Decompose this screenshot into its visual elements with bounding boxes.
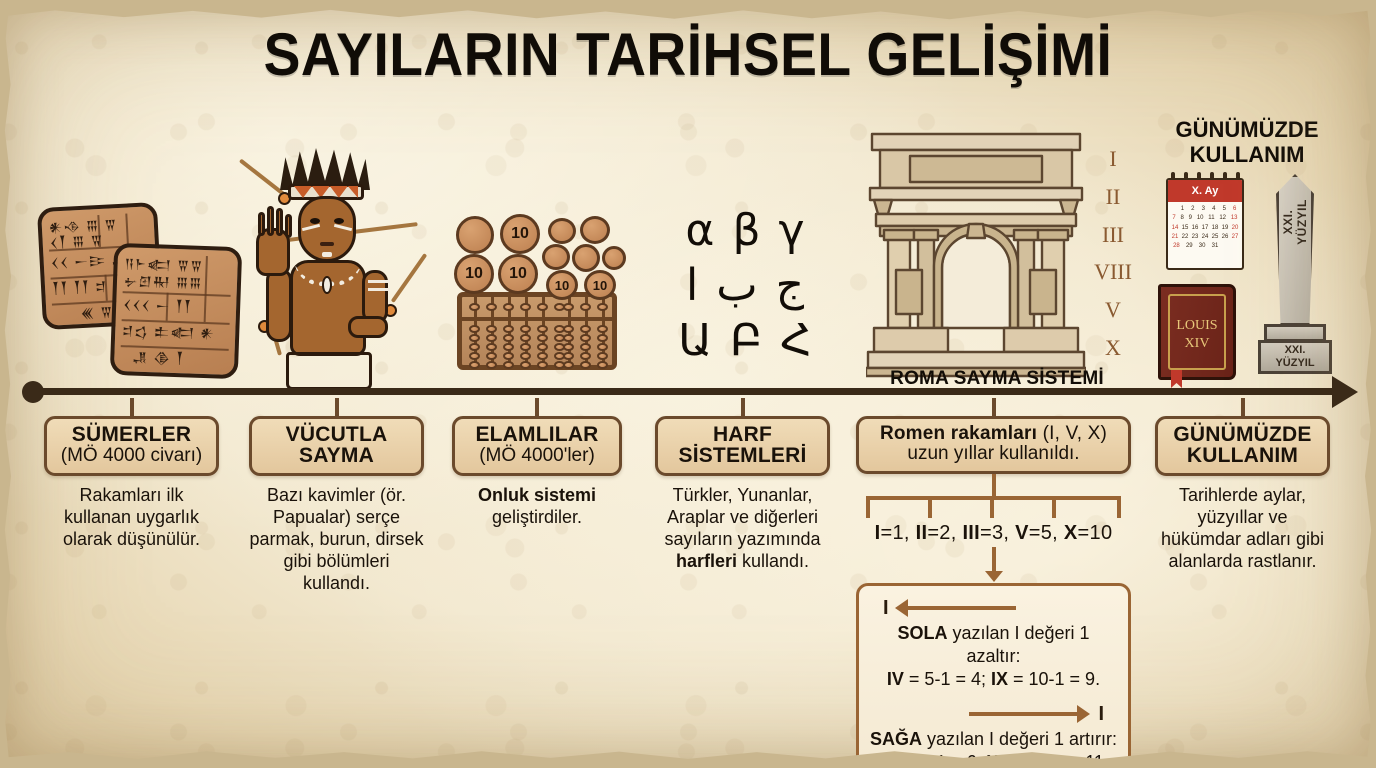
roman-connector-drop: [992, 474, 996, 496]
obelisk-shaft-text: XXI. YÜZYIL: [1281, 195, 1309, 249]
roman-numeral-ii: II: [1090, 178, 1136, 216]
roman-symbol-iii: III: [962, 522, 980, 544]
calendar-grid: 123456 78910111213 14151617181920 212223…: [1168, 202, 1242, 254]
armenian-ben: Բ: [730, 315, 762, 366]
description-sumerler: Rakamları ilk kullanan uygarlık olarak d…: [44, 485, 219, 551]
description-rest: geliştirdiler.: [492, 507, 582, 527]
roman-numeral-i: I: [1090, 140, 1136, 178]
roman-rules-box: I SOLA yazılan I değeri 1 azaltır: IV = …: [856, 583, 1131, 768]
rule-right-examples: VI = 5+1 = 6; XI = 10+1 = 11.: [869, 751, 1118, 768]
greek-alpha: α: [685, 205, 714, 256]
description-harf-sistemleri: Türkler, Yunanlar, Araplar ve diğerleri …: [655, 485, 830, 573]
description-post: kullandı.: [737, 551, 809, 571]
roman-numeral-x: X: [1090, 329, 1136, 367]
connector-stem: [992, 398, 996, 416]
rule-left-examples: IV = 5-1 = 4; IX = 10-1 = 9.: [869, 668, 1118, 691]
book-title-line1: LOUIS: [1161, 317, 1233, 335]
chip-title: SÜMERLER: [53, 424, 210, 445]
arabic-jim: ج: [776, 260, 804, 311]
paper-torn-edge-bottom: [0, 744, 1376, 768]
paper-torn-edge-left: [0, 0, 22, 768]
description-emphasis: Onluk sistemi: [478, 485, 596, 505]
connector-stem: [1241, 398, 1245, 416]
present-day-heading: GÜNÜMÜZDE KULLANIM: [1152, 118, 1342, 167]
chip-title: ELAMLILAR: [461, 424, 613, 445]
arabic-alif: ا: [686, 260, 698, 311]
papuan-tribesman-body-counting: [236, 148, 426, 388]
connector-stem: [741, 398, 745, 416]
parchment-background: SAYILARIN TARİHSEL GELİŞİMİ 𒀭𒈾 𒐋 𒐊 𒌋𒐕 𒐋 …: [0, 0, 1376, 768]
armenian-ho: Հ: [780, 315, 812, 366]
elamite-clay-tokens: 10 10 10 10 10: [452, 212, 622, 292]
page-title: SAYILARIN TARİHSEL GELİŞİMİ: [55, 20, 1321, 89]
connector-stem: [130, 398, 134, 416]
roman-symbol-ii: II: [916, 522, 928, 544]
roman-symbol-v: V: [1015, 522, 1029, 544]
chip-elamlilar[interactable]: ELAMLILAR (MÖ 4000'ler): [452, 416, 622, 476]
chip-title-rest: (I, V, X): [1037, 423, 1107, 444]
chip-harf-sistemleri[interactable]: HARF SİSTEMLERİ: [655, 416, 830, 476]
connector-stem: [335, 398, 339, 416]
timeline-arrow-icon: [1332, 376, 1358, 408]
obelisk-xxi-century: XXI. YÜZYIL XXI. YÜZYIL: [1252, 174, 1338, 382]
roman-values-row: I=1, II=2, III=3, V=5, X=10: [856, 522, 1131, 545]
greek-beta: β: [732, 205, 760, 256]
timeline-column-sumerler[interactable]: SÜMERLER (MÖ 4000 civarı) Rakamları ilk …: [44, 398, 219, 551]
calendar: X. Ay 123456 78910111213 14151617181920 …: [1166, 178, 1244, 270]
rule-right-text: SAĞA yazılan I değeri 1 artırır:: [869, 728, 1118, 751]
chip-romen-rakamlari[interactable]: Romen rakamları (I, V, X) uzun yıllar ku…: [856, 416, 1131, 474]
roman-numeral-iii: III: [1090, 216, 1136, 254]
chip-title: HARF: [664, 424, 821, 445]
roman-numeral-viii: VIII: [1090, 253, 1136, 291]
description-elamlilar: Onluk sistemi geliştirdiler.: [452, 485, 622, 529]
chip-sumerler[interactable]: SÜMERLER (MÖ 4000 civarı): [44, 416, 219, 476]
chip-title: VÜCUTLA: [258, 424, 415, 445]
chip-gunumuzde-kullanim[interactable]: GÜNÜMÜZDE KULLANIM: [1155, 416, 1330, 476]
chip-title: Romen rakamları (I, V, X): [865, 424, 1122, 443]
chip-title-2: SİSTEMLERİ: [664, 445, 821, 466]
book-title-line2: XIV: [1161, 335, 1233, 353]
rule-left-arrow-icon: I: [869, 598, 1118, 618]
present-day-heading-line1: GÜNÜMÜZDE: [1152, 118, 1342, 143]
chip-title-bold: Romen rakamları: [880, 423, 1037, 444]
bookmark-icon: [1171, 370, 1182, 388]
abacus: [457, 292, 617, 370]
rule-right-arrow-icon: I: [869, 704, 1118, 724]
chip-vucutla-sayma[interactable]: VÜCUTLA SAYMA: [249, 416, 424, 476]
description-pre: Türkler, Yunanlar, Araplar ve diğerleri …: [664, 485, 820, 549]
timeline-column-elamlilar[interactable]: ELAMLILAR (MÖ 4000'ler) Onluk sistemi ge…: [452, 398, 622, 529]
roman-value-bracket: [856, 496, 1131, 518]
arabic-ba: ب: [716, 260, 757, 311]
book-louis-xiv: LOUIS XIV: [1158, 284, 1236, 380]
roman-system-caption: ROMA SAYMA SİSTEMİ: [862, 368, 1132, 390]
roman-triumphal-arch: [866, 128, 1086, 380]
present-day-heading-line2: KULLANIM: [1152, 143, 1342, 168]
connector-stem: [535, 398, 539, 416]
calendar-month-label: X. Ay: [1168, 180, 1242, 202]
chip-subtitle: (MÖ 4000 civarı): [53, 445, 210, 466]
chip-title-2: SAYMA: [258, 445, 415, 466]
obelisk-base-text: XXI. YÜZYIL: [1258, 344, 1332, 370]
roman-symbol-x: X: [1064, 522, 1078, 544]
timeline-column-harf-sistemleri[interactable]: HARF SİSTEMLERİ Türkler, Yunanlar, Arapl…: [655, 398, 830, 573]
armenian-ayb: Ա: [678, 315, 712, 366]
chip-subtitle: uzun yıllar kullanıldı.: [865, 443, 1122, 464]
roman-connector-arrow-icon: [992, 547, 996, 573]
rule-left-text: SOLA yazılan I değeri 1 azaltır:: [869, 622, 1118, 669]
greek-gamma: γ: [779, 205, 805, 256]
timeline-column-vucutla-sayma[interactable]: VÜCUTLA SAYMA Bazı kavimler (ör. Papuala…: [249, 398, 424, 595]
timeline-column-gunumuzde-kullanim[interactable]: GÜNÜMÜZDE KULLANIM Tarihlerde aylar, yüz…: [1155, 398, 1330, 573]
roman-numeral-column: I II III VIII V X: [1090, 140, 1136, 367]
description-emphasis: harfleri: [676, 551, 737, 571]
chip-title: GÜNÜMÜZDE: [1164, 424, 1321, 445]
timeline-column-romen[interactable]: Romen rakamları (I, V, X) uzun yıllar ku…: [856, 398, 1131, 768]
description-gunumuzde-kullanim: Tarihlerde aylar, yüzyıllar ve hükümdar …: [1155, 485, 1330, 573]
description-vucutla-sayma: Bazı kavimler (ör. Papualar) serçe parma…: [249, 485, 424, 595]
chip-title-2: KULLANIM: [1164, 445, 1321, 466]
letter-numeral-systems: α β γ ا ب ج Ա Բ Հ: [660, 205, 830, 380]
timeline-axis: [30, 388, 1346, 395]
roman-numeral-v: V: [1090, 291, 1136, 329]
chip-subtitle: (MÖ 4000'ler): [461, 445, 613, 466]
sumerian-clay-tablets: 𒀭𒈾 𒐋 𒐊 𒌋𒐕 𒐋 𒐊 𒌋𒌋 𒀸𒄿 𒂗 𒐕𒐕 𒐕𒐕 𒄑 𒌍 𒐊 𒀀𒈨𒅗 𒐊𒐊…: [40, 205, 240, 380]
